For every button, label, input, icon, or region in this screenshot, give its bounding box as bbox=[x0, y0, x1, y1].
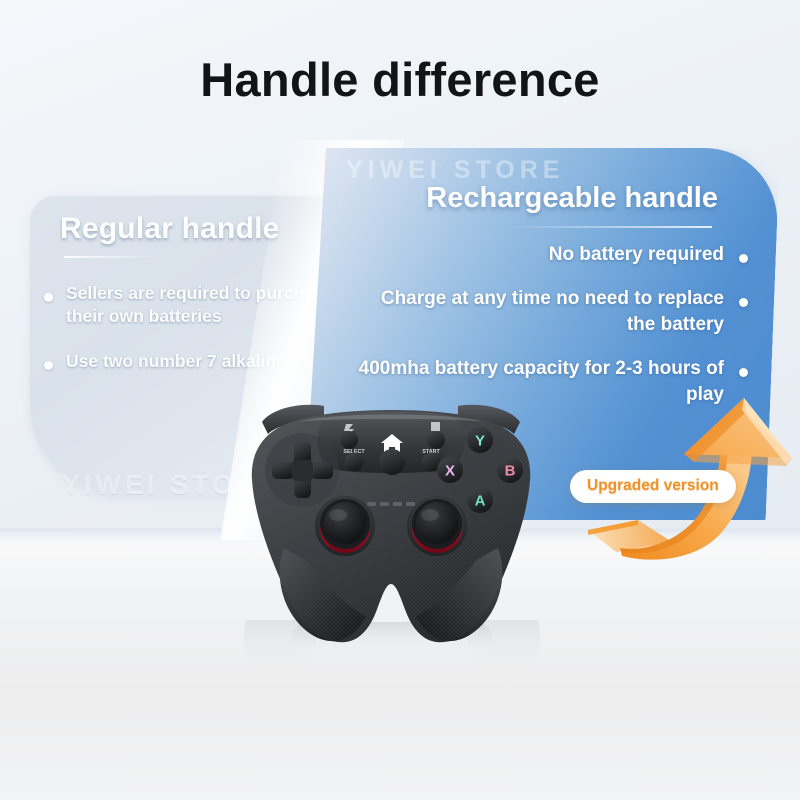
gamepad-controller: SELECT START Y X bbox=[228, 398, 554, 648]
list-item: No battery required bbox=[350, 242, 750, 268]
button-b-label: B bbox=[505, 463, 516, 480]
bullet-dot-icon bbox=[739, 254, 748, 263]
upgraded-version-badge: Upgraded version bbox=[570, 470, 736, 503]
turbo-button[interactable] bbox=[340, 431, 358, 449]
select-button[interactable] bbox=[345, 453, 364, 472]
regular-handle-underline bbox=[64, 256, 160, 258]
bullet-dot-icon bbox=[44, 361, 53, 370]
button-a-label: A bbox=[475, 493, 486, 510]
bullet-dot-icon bbox=[44, 293, 53, 302]
button-x-label: X bbox=[445, 463, 455, 480]
clear-icon bbox=[431, 422, 440, 431]
home-button[interactable] bbox=[379, 449, 405, 475]
dpad-right[interactable] bbox=[311, 462, 333, 479]
left-analog-stick[interactable] bbox=[315, 496, 375, 556]
infographic-canvas: Handle difference YIWEI STORE Regular ha… bbox=[0, 0, 800, 800]
list-item: Charge at any time no need to replace th… bbox=[350, 286, 750, 338]
right-watermark: YIWEI STORE bbox=[346, 156, 646, 185]
page-title: Handle difference bbox=[0, 52, 800, 107]
bullet-dot-icon bbox=[739, 368, 748, 377]
list-item-label: Charge at any time no need to replace th… bbox=[381, 288, 724, 335]
clear-button[interactable] bbox=[427, 431, 445, 449]
dpad-left[interactable] bbox=[272, 462, 294, 479]
rechargeable-handle-underline bbox=[507, 226, 712, 228]
button-y-label: Y bbox=[475, 433, 485, 450]
bullet-dot-icon bbox=[739, 298, 748, 307]
dpad-center[interactable] bbox=[292, 460, 313, 481]
list-item-label: No battery required bbox=[549, 244, 724, 265]
rechargeable-handle-heading: Rechargeable handle bbox=[426, 182, 718, 215]
right-analog-stick[interactable] bbox=[407, 496, 467, 556]
